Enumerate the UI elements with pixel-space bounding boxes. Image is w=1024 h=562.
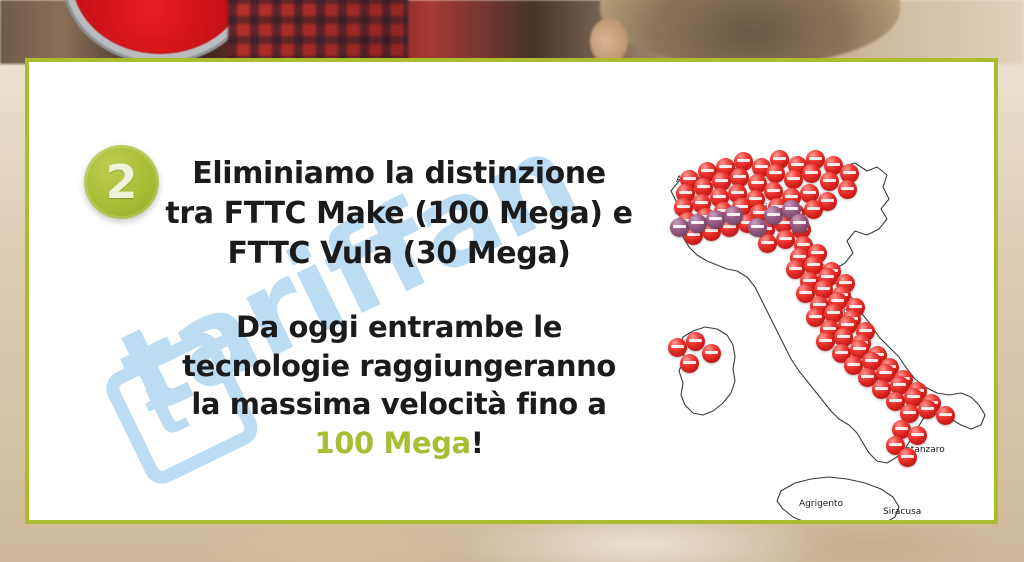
- coverage-pin: [724, 206, 743, 225]
- coverage-pin: [748, 218, 767, 237]
- coverage-pin: [688, 214, 707, 233]
- step-number-badge: 2: [84, 145, 159, 219]
- coverage-pin: [838, 180, 857, 199]
- coverage-pin: [908, 426, 927, 445]
- coverage-pin: [764, 206, 783, 225]
- coverage-pin: [702, 344, 721, 363]
- coverage-pin: [784, 170, 803, 189]
- headline-block-primary: Eliminiamo la distinzione tra FTTC Make …: [149, 154, 649, 274]
- map-label-agrigento: Agrigento: [799, 499, 843, 509]
- coverage-pin: [804, 200, 823, 219]
- speed-highlight: 100 Mega: [314, 426, 470, 460]
- coverage-pin: [918, 400, 937, 419]
- coverage-pin: [776, 230, 795, 249]
- headline-line-5: tecnologie raggiungeranno: [149, 347, 649, 386]
- headline-line-1: Eliminiamo la distinzione: [149, 154, 649, 194]
- coverage-pin: [706, 210, 725, 229]
- headline-copy: Eliminiamo la distinzione tra FTTC Make …: [149, 154, 649, 463]
- headline-line-6: la massima velocità fino a: [149, 385, 649, 424]
- plaid-shirt-image: [228, 0, 408, 64]
- coverage-pin: [668, 338, 687, 357]
- coverage-pin: [790, 214, 809, 233]
- speed-exclamation: !: [471, 426, 484, 460]
- headline-line-3: FTTC Vula (30 Mega): [149, 234, 649, 274]
- headline-spacer: [149, 274, 649, 308]
- coverage-pin: [686, 332, 705, 351]
- coverage-pin: [820, 172, 839, 191]
- headline-line-4: Da oggi entrambe le: [149, 308, 649, 347]
- coverage-pin: [898, 448, 917, 467]
- coverage-pin: [670, 218, 689, 237]
- coverage-pin: [680, 354, 699, 373]
- headline-block-secondary: Da oggi entrambe le tecnologie raggiunge…: [149, 308, 649, 463]
- coverage-pin: [766, 164, 785, 183]
- italy-coverage-map: Aosta Pavia Firenze Arezzo Perugia Roma …: [649, 157, 998, 524]
- coverage-pin: [816, 332, 835, 351]
- headline-line-2: tra FTTC Make (100 Mega) e: [149, 194, 649, 234]
- coverage-pin: [802, 164, 821, 183]
- headline-line-7: 100 Mega!: [149, 424, 649, 463]
- step-number-label: 2: [105, 159, 137, 205]
- map-label-siracusa: Siracusa: [883, 507, 921, 517]
- promo-card: t tariffan 2 Eliminiamo la distinzione t…: [25, 58, 998, 524]
- coverage-pin: [936, 406, 955, 425]
